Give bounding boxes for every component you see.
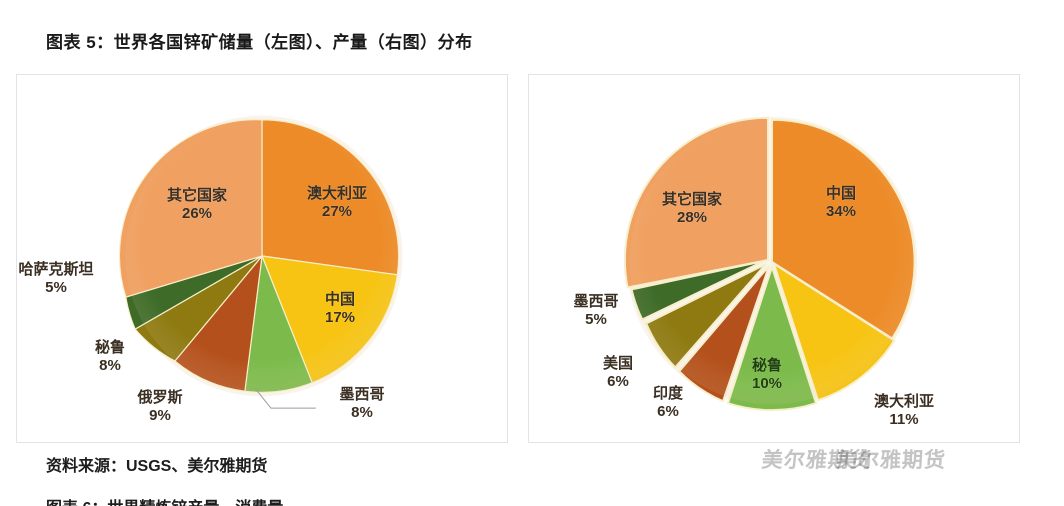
pie-label-china-name: 中国 bbox=[325, 291, 355, 308]
pie-label-other-countries-pct: 26% bbox=[142, 205, 252, 223]
chart-panel-reserves: 其它国家 26% 澳大利亚 27% 中国 17% 墨西哥 8% 俄罗斯 9% 秘… bbox=[16, 74, 508, 443]
pie-label-other-countries-name: 其它国家 bbox=[167, 187, 227, 204]
pie-label-peru: 秘鲁 8% bbox=[79, 339, 141, 376]
pie-label-kazakhstan: 哈萨克斯坦 5% bbox=[11, 261, 101, 298]
pie-label-peru-pct: 10% bbox=[736, 375, 798, 393]
pie-label-peru: 秘鲁 10% bbox=[736, 357, 798, 394]
pie-label-mexico-name: 墨西哥 bbox=[339, 386, 384, 403]
pie-label-peru-pct: 8% bbox=[79, 357, 141, 375]
pie-label-other-countries-pct: 28% bbox=[637, 209, 747, 227]
pie-label-australia: 澳大利亚 27% bbox=[282, 185, 392, 222]
pie-label-mexico-pct: 8% bbox=[315, 404, 409, 422]
pie-label-india-pct: 6% bbox=[637, 403, 699, 421]
pie-label-kazakhstan-name: 哈萨克斯坦 bbox=[18, 261, 93, 278]
pie-chart-reserves: 其它国家 26% 澳大利亚 27% 中国 17% 墨西哥 8% 俄罗斯 9% 秘… bbox=[17, 75, 507, 442]
pie-label-china-pct: 34% bbox=[801, 203, 881, 221]
pie-label-australia-name: 澳大利亚 bbox=[307, 185, 367, 202]
pie-label-other-countries: 其它国家 26% bbox=[142, 187, 252, 224]
watermark-text-a: 美尔雅期货 bbox=[760, 444, 873, 474]
page-title: 图表 5：世界各国锌矿储量（左图）、产量（右图）分布 bbox=[46, 28, 473, 53]
pie-label-china-pct: 17% bbox=[300, 309, 380, 327]
figure-page: 图表 5：世界各国锌矿储量（左图）、产量（右图）分布 bbox=[0, 0, 1064, 506]
pie-label-china: 中国 34% bbox=[801, 185, 881, 222]
pie-label-australia-name: 澳大利亚 bbox=[874, 393, 934, 410]
pie-label-russia-name: 俄罗斯 bbox=[137, 389, 182, 406]
pie-label-india-name: 印度 bbox=[653, 385, 683, 402]
pie-label-russia: 俄罗斯 9% bbox=[117, 389, 203, 426]
pie-shading bbox=[126, 120, 399, 393]
watermark-text-b: 美尔雅期货 bbox=[835, 444, 947, 474]
pie-label-usa-name: 美国 bbox=[603, 355, 633, 372]
pie-label-kazakhstan-pct: 5% bbox=[11, 279, 101, 297]
pie-label-russia-pct: 9% bbox=[117, 407, 203, 425]
pie-label-peru-name: 秘鲁 bbox=[752, 357, 782, 374]
pie-label-mexico: 墨西哥 5% bbox=[557, 293, 635, 330]
pie-chart-production: 其它国家 28% 中国 34% 澳大利亚 11% 秘鲁 10% 印度 6% 美国 bbox=[529, 75, 1019, 442]
pie-label-mexico: 墨西哥 8% bbox=[315, 386, 409, 423]
pie-label-mexico-pct: 5% bbox=[557, 311, 635, 329]
cutoff-next-heading: 图表 6：世界精炼锌产量、消费量 bbox=[46, 494, 283, 506]
watermark: 美尔雅期货 美尔雅期货 bbox=[758, 442, 1058, 476]
pie-label-china: 中国 17% bbox=[300, 291, 380, 328]
pie-label-australia: 澳大利亚 11% bbox=[849, 393, 959, 430]
source-note: 资料来源：USGS、美尔雅期货 bbox=[46, 452, 267, 476]
pie-label-peru-name: 秘鲁 bbox=[95, 339, 125, 356]
pie-label-australia-pct: 11% bbox=[849, 411, 959, 429]
pie-label-other-countries: 其它国家 28% bbox=[637, 191, 747, 228]
pie-label-mexico-name: 墨西哥 bbox=[573, 293, 618, 310]
pie-label-australia-pct: 27% bbox=[282, 203, 392, 221]
pie-svg-reserves bbox=[17, 75, 507, 442]
chart-panel-production: 其它国家 28% 中国 34% 澳大利亚 11% 秘鲁 10% 印度 6% 美国 bbox=[528, 74, 1020, 443]
pie-label-usa: 美国 6% bbox=[587, 355, 649, 392]
pie-label-usa-pct: 6% bbox=[587, 373, 649, 391]
pie-label-other-countries-name: 其它国家 bbox=[662, 191, 722, 208]
pie-label-china-name: 中国 bbox=[826, 185, 856, 202]
